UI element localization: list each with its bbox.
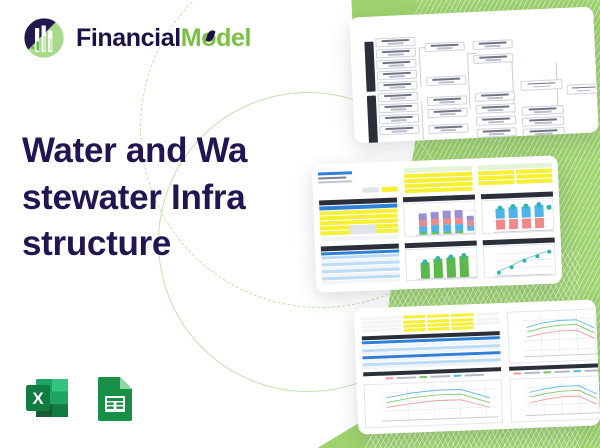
- tree-node: [426, 75, 466, 86]
- brand-model-del: del: [216, 24, 251, 52]
- tree-node: [377, 81, 417, 92]
- brand-model-o-leaf: o: [201, 26, 216, 51]
- scenario-input[interactable]: [427, 327, 449, 331]
- scenario-input[interactable]: [403, 315, 425, 319]
- tree-group-income-statement: [364, 42, 375, 92]
- tree-node: [377, 70, 417, 81]
- brand-name-financial: Financial: [76, 24, 181, 52]
- tree-node: [378, 92, 418, 103]
- tree-node: [428, 123, 468, 134]
- brand-name-model: Model: [181, 24, 251, 52]
- dashboard-title: [318, 171, 352, 175]
- dashboard-sheet: [318, 162, 556, 287]
- dashboard-preview[interactable]: [312, 155, 563, 292]
- tree-node: [375, 37, 415, 48]
- scenario-line-chart-1: [507, 308, 600, 364]
- tree-node: [522, 127, 564, 138]
- brand-logo: FinancialModel: [22, 16, 251, 60]
- brand-model-m: M: [181, 24, 201, 52]
- case-toggle-button-active[interactable]: [382, 186, 398, 192]
- tree-node: [473, 53, 513, 64]
- cumulative-cash-chart: [483, 243, 556, 278]
- slide-canvas: FinancialModel Water and Wastewater Infr…: [0, 0, 600, 448]
- svg-text:X: X: [32, 389, 44, 408]
- tree-node: [428, 107, 468, 118]
- microsoft-excel-icon[interactable]: X: [22, 372, 74, 424]
- financial-model-circle-logo: [22, 16, 66, 60]
- tree-node: [376, 59, 416, 70]
- financial-statement-tree-preview[interactable]: [349, 7, 598, 144]
- tree-node: [472, 39, 512, 50]
- tree-node: [379, 125, 419, 136]
- page-title: Water and Wastewater Infrastructure: [22, 128, 254, 268]
- scenario-sheet: [361, 307, 593, 428]
- summary-input[interactable]: [478, 180, 514, 185]
- stacked-revenue-chart: [403, 201, 476, 238]
- summary-input[interactable]: [516, 179, 552, 184]
- tree-node: [376, 48, 416, 59]
- google-sheets-icon[interactable]: [88, 372, 140, 424]
- scenario-line-chart-2: [364, 379, 504, 428]
- tree-node-roe: [567, 83, 599, 95]
- tree-node: [379, 114, 419, 125]
- tree-node: [476, 115, 516, 126]
- scenario-line-chart-3: [509, 375, 600, 423]
- driver-tree-diagram: [358, 14, 591, 136]
- case-toggle-button[interactable]: [363, 187, 379, 193]
- tree-node: [427, 95, 467, 106]
- scenario-input[interactable]: [451, 313, 473, 317]
- tree-node: [378, 103, 418, 114]
- brand-wordmark: FinancialModel: [76, 26, 251, 51]
- tree-node: [521, 105, 563, 116]
- tree-node: [425, 41, 465, 52]
- capex-chart: [481, 198, 554, 235]
- scenario-input[interactable]: [451, 326, 473, 330]
- scenario-input[interactable]: [427, 314, 449, 318]
- scenario-input[interactable]: [403, 328, 425, 332]
- scenario-charts-preview[interactable]: [354, 299, 600, 434]
- tree-group-balance-sheet: [367, 95, 378, 143]
- ebitda-bar-chart: [405, 246, 478, 281]
- tree-node: [522, 116, 564, 127]
- file-format-icons: X: [22, 372, 140, 424]
- table-total-row: [320, 234, 398, 241]
- tree-node: [520, 79, 562, 91]
- tree-node: [476, 127, 516, 138]
- tree-node: [475, 91, 515, 102]
- tree-node: [475, 103, 515, 114]
- dashboard-subtitle: [318, 176, 346, 179]
